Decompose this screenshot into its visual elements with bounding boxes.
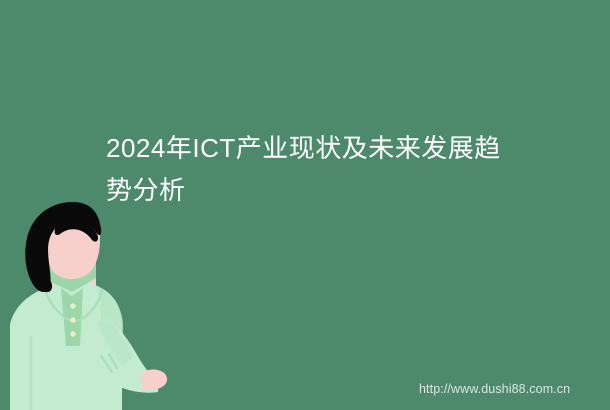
shirt-button-3 (70, 331, 75, 336)
page-title: 2024年ICT产业现状及未来发展趋势分析 (106, 127, 506, 211)
shirt-button-1 (70, 303, 75, 308)
watermark-url: http://www.dushi88.com.cn (419, 382, 570, 396)
shirt-button-2 (70, 317, 75, 322)
hand-shape (142, 369, 167, 390)
person-illustration (0, 196, 200, 410)
poster-canvas: 2024年ICT产业现状及未来发展趋势分析 http://www.dushi88… (0, 0, 610, 410)
